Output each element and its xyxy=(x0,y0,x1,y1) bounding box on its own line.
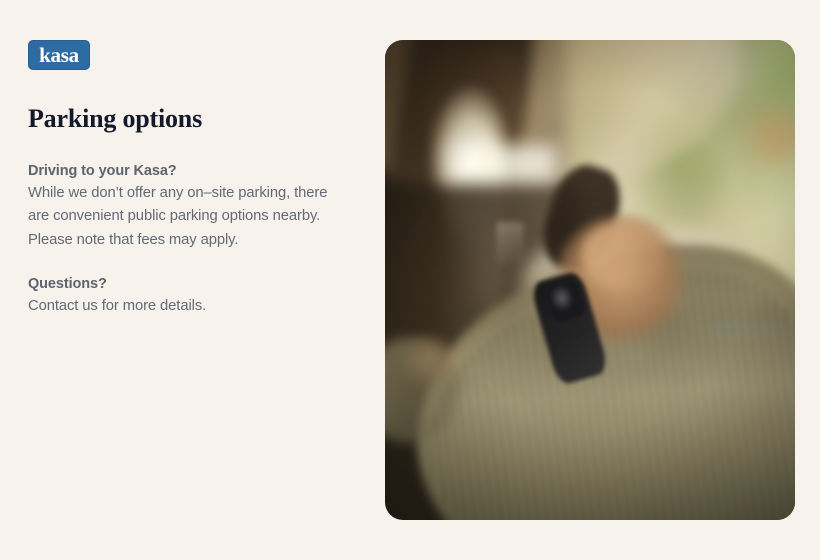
text-column: kasa Parking options Driving to your Kas… xyxy=(28,40,348,319)
hero-photo-driving xyxy=(385,40,795,520)
section-driving: Driving to your Kasa? While we don’t off… xyxy=(28,161,328,253)
kasa-logo-text: kasa xyxy=(39,45,79,66)
section-driving-body: While we don’t offer any on–site parking… xyxy=(28,182,328,253)
hero-photo-frame xyxy=(385,40,795,520)
photo-layer-vignette xyxy=(385,40,795,520)
section-questions: Questions? Contact us for more details. xyxy=(28,274,328,319)
section-divider-space xyxy=(28,252,328,274)
slide-root: kasa Parking options Driving to your Kas… xyxy=(0,0,820,560)
content-sections: Driving to your Kasa? While we don’t off… xyxy=(28,161,328,319)
page-title: Parking options xyxy=(28,104,348,134)
section-questions-heading: Questions? xyxy=(28,274,328,295)
section-questions-body: Contact us for more details. xyxy=(28,295,328,319)
kasa-logo[interactable]: kasa xyxy=(28,40,90,70)
section-driving-heading: Driving to your Kasa? xyxy=(28,161,328,182)
